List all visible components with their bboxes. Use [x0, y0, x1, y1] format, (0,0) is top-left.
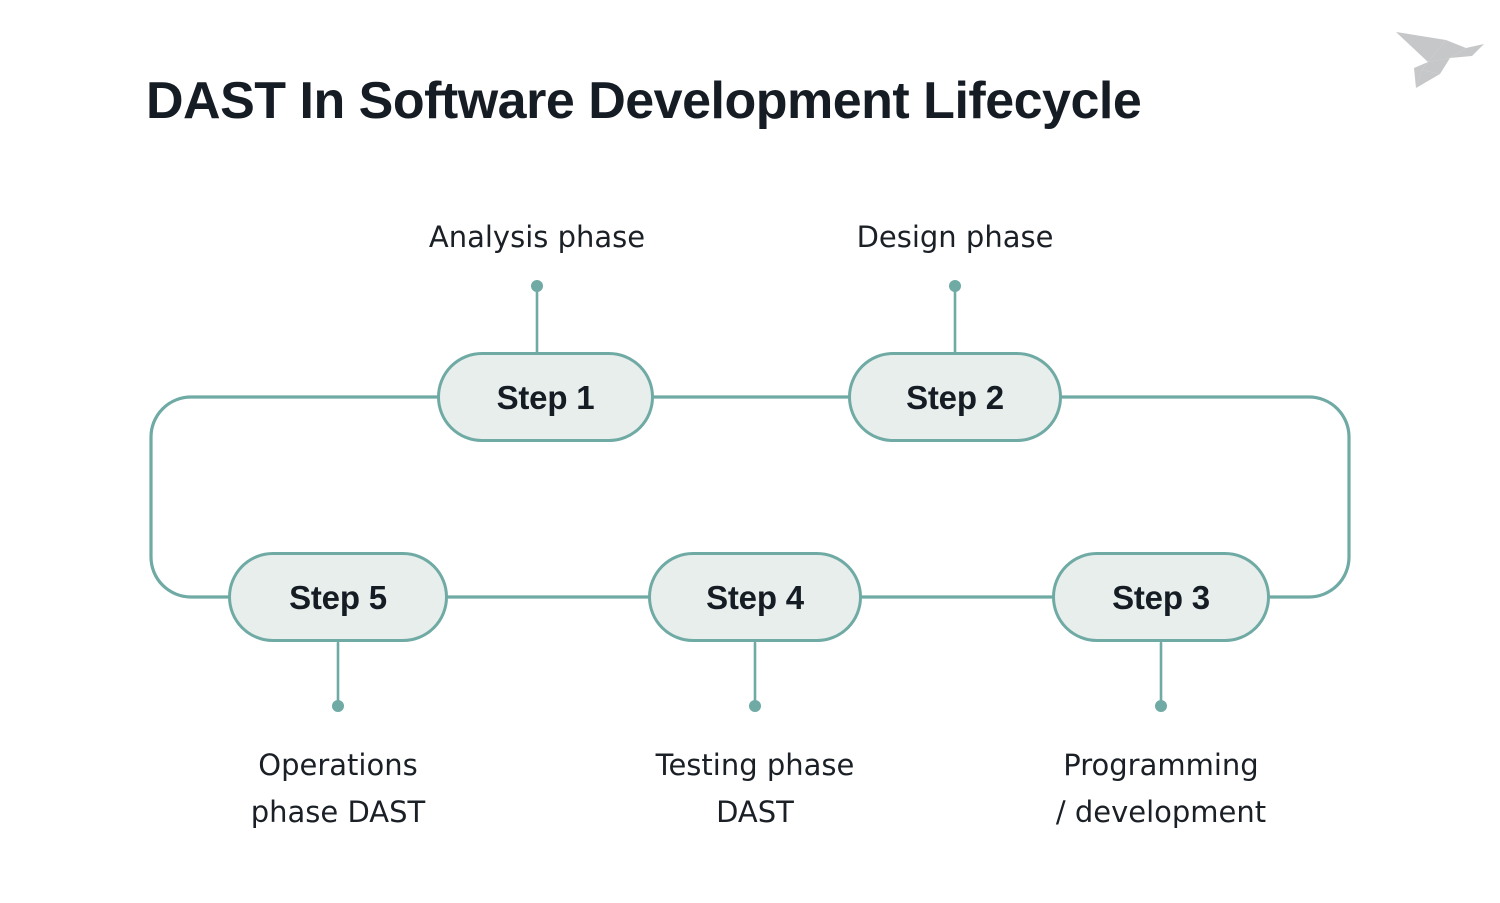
process-flow-diagram: Step 1 Step 2 Step 3 Step 4 Step 5 Analy…	[0, 0, 1500, 903]
phase-caption-step4-line-1: Testing phase	[605, 742, 905, 789]
leader-dot-step1	[531, 280, 543, 292]
phase-caption-step2-line-1: Design phase	[805, 214, 1105, 261]
leader-dot-step3	[1155, 700, 1167, 712]
phase-caption-step4: Testing phase DAST	[605, 742, 905, 836]
phase-caption-step3: Programming / development	[1011, 742, 1311, 836]
leader-dot-step4	[749, 700, 761, 712]
phase-caption-step1: Analysis phase	[387, 214, 687, 261]
step-node-2-label: Step 2	[906, 381, 1004, 414]
step-node-2[interactable]: Step 2	[848, 352, 1062, 442]
phase-caption-step2: Design phase	[805, 214, 1105, 261]
phase-caption-step5: Operations phase DAST	[188, 742, 488, 836]
phase-caption-step5-line-2: phase DAST	[188, 789, 488, 836]
phase-caption-step3-line-1: Programming	[1011, 742, 1311, 789]
step-node-4[interactable]: Step 4	[648, 552, 862, 642]
leader-dot-step2	[949, 280, 961, 292]
step-node-5-label: Step 5	[289, 581, 387, 614]
phase-caption-step1-line-1: Analysis phase	[387, 214, 687, 261]
step-node-1[interactable]: Step 1	[437, 352, 654, 442]
step-node-4-label: Step 4	[706, 581, 804, 614]
step-node-3[interactable]: Step 3	[1052, 552, 1270, 642]
step-node-5[interactable]: Step 5	[228, 552, 448, 642]
phase-caption-step3-line-2: / development	[1011, 789, 1311, 836]
phase-caption-step4-line-2: DAST	[605, 789, 905, 836]
step-node-1-label: Step 1	[497, 381, 595, 414]
step-node-3-label: Step 3	[1112, 581, 1210, 614]
phase-caption-step5-line-1: Operations	[188, 742, 488, 789]
leader-dot-step5	[332, 700, 344, 712]
